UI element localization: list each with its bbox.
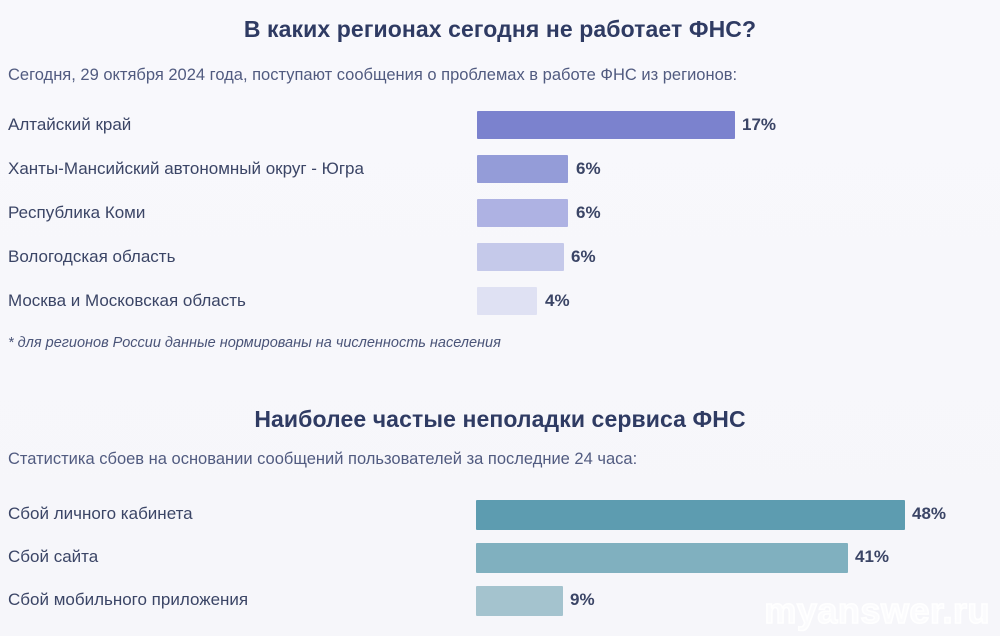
chart-2-bar	[476, 543, 848, 573]
chart-2-value-label: 41%	[855, 540, 889, 574]
chart-1-row: Республика Коми 6%	[0, 196, 1000, 230]
chart-1-footnote: * для регионов России данные нормированы…	[8, 335, 501, 351]
chart-1-value-label: 6%	[576, 196, 601, 230]
chart-2-value-label: 9%	[570, 583, 595, 617]
chart-1-row: Вологодская область 6%	[0, 240, 1000, 274]
infographic-page: В каких регионах сегодня не работает ФНС…	[0, 0, 1000, 636]
chart-1-category-label: Республика Коми	[8, 196, 145, 230]
chart-1-value-label: 6%	[576, 152, 601, 186]
chart-2-row: Сбой сайта 41%	[0, 540, 1000, 574]
chart-1-bar	[477, 155, 568, 183]
chart-1-bar	[477, 287, 537, 315]
chart-1-value-label: 6%	[571, 240, 596, 274]
chart-1-category-label: Алтайский край	[8, 108, 131, 142]
chart-2-bar	[476, 586, 563, 616]
chart-1-category-label: Москва и Московская область	[8, 284, 246, 318]
chart-1-bar	[477, 199, 568, 227]
chart-1-bar	[477, 243, 564, 271]
chart-2-title: Наиболее частые неполадки сервиса ФНС	[0, 406, 1000, 433]
chart-2-value-label: 48%	[912, 497, 946, 531]
chart-1-value-label: 4%	[545, 284, 570, 318]
chart-1-category-label: Ханты-Мансийский автономный округ - Югра	[8, 152, 364, 186]
chart-1-row: Алтайский край 17%	[0, 108, 1000, 142]
chart-2-row: Сбой мобильного приложения 9%	[0, 583, 1000, 617]
chart-1-row: Ханты-Мансийский автономный округ - Югра…	[0, 152, 1000, 186]
chart-2-category-label: Сбой сайта	[8, 540, 98, 574]
chart-2-subtitle: Статистика сбоев на основании сообщений …	[8, 450, 637, 469]
chart-1-value-label: 17%	[742, 108, 776, 142]
chart-1-bar	[477, 111, 735, 139]
chart-1-category-label: Вологодская область	[8, 240, 175, 274]
chart-2-row: Сбой личного кабинета 48%	[0, 497, 1000, 531]
chart-1-title: В каких регионах сегодня не работает ФНС…	[0, 16, 1000, 43]
chart-2-bar	[476, 500, 905, 530]
chart-1-row: Москва и Московская область 4%	[0, 284, 1000, 318]
chart-1-subtitle: Сегодня, 29 октября 2024 года, поступают…	[8, 66, 737, 85]
chart-2-category-label: Сбой личного кабинета	[8, 497, 193, 531]
chart-2-category-label: Сбой мобильного приложения	[8, 583, 248, 617]
